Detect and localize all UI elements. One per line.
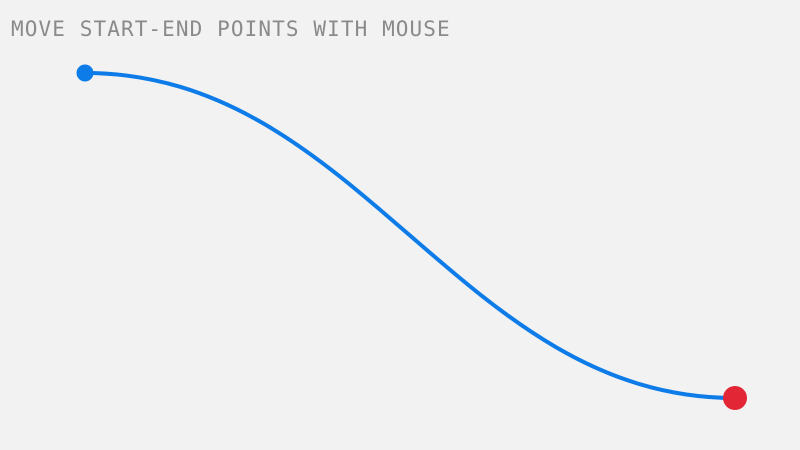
canvas-stage[interactable]: Move start-end points with mouse (0, 0, 800, 450)
bezier-curve (85, 73, 735, 398)
bezier-canvas[interactable] (0, 0, 800, 450)
end-point-handle[interactable] (723, 386, 747, 410)
page-title: Move start-end points with mouse (11, 17, 451, 41)
start-point-handle[interactable] (77, 65, 94, 82)
